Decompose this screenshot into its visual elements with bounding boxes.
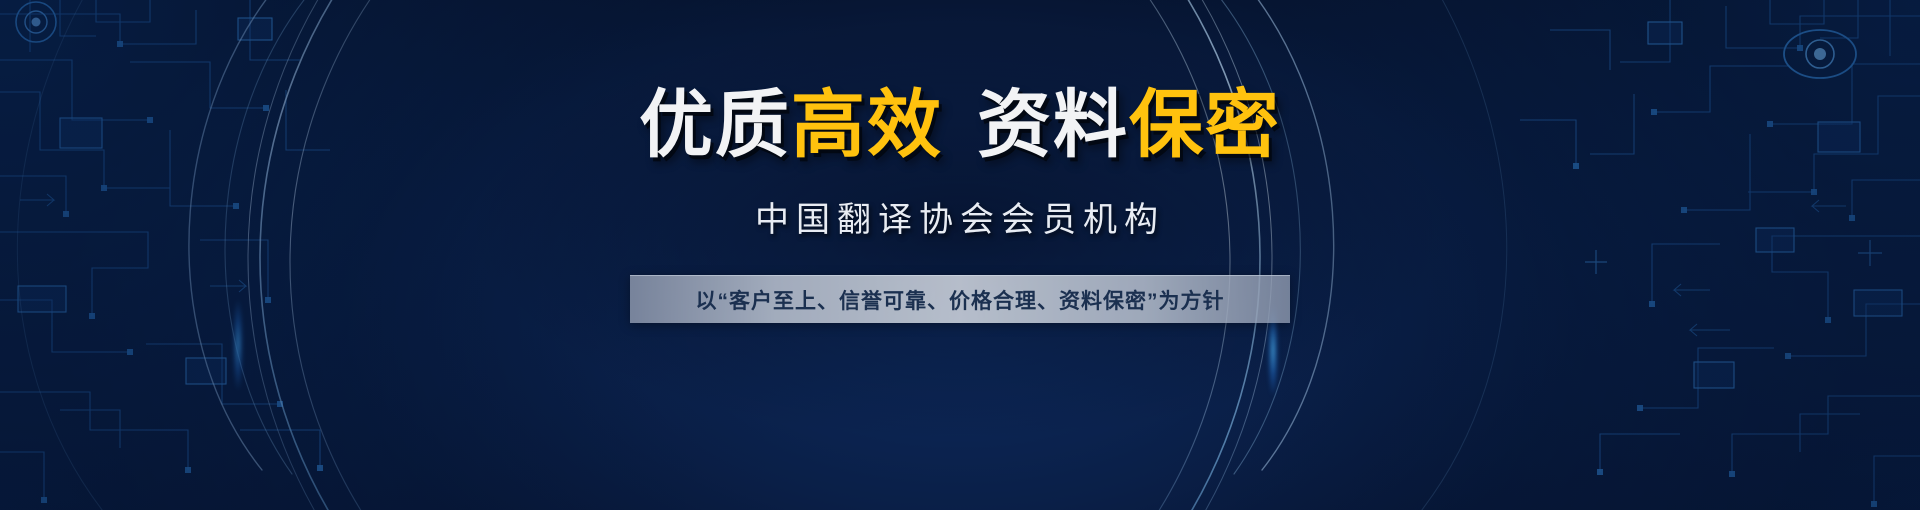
headline-segment-3: 资料 [977, 83, 1129, 166]
headline-segment-2: 高效 [791, 83, 943, 166]
hero-banner: 优质高效资料保密 中国翻译协会会员机构 以“客户至上、信誉可靠、价格合理、资料保… [0, 0, 1920, 510]
headline-segment-1: 优质 [639, 83, 791, 166]
banner-content: 优质高效资料保密 中国翻译协会会员机构 以“客户至上、信誉可靠、价格合理、资料保… [0, 0, 1920, 510]
slogan-text: 以“客户至上、信誉可靠、价格合理、资料保密”为方针 [696, 285, 1225, 315]
banner-subtitle: 中国翻译协会会员机构 [755, 192, 1165, 241]
headline-segment-4: 保密 [1129, 83, 1281, 166]
slogan-bar: 以“客户至上、信誉可靠、价格合理、资料保密”为方针 [630, 275, 1290, 323]
banner-headline: 优质高效资料保密 [639, 88, 1281, 162]
